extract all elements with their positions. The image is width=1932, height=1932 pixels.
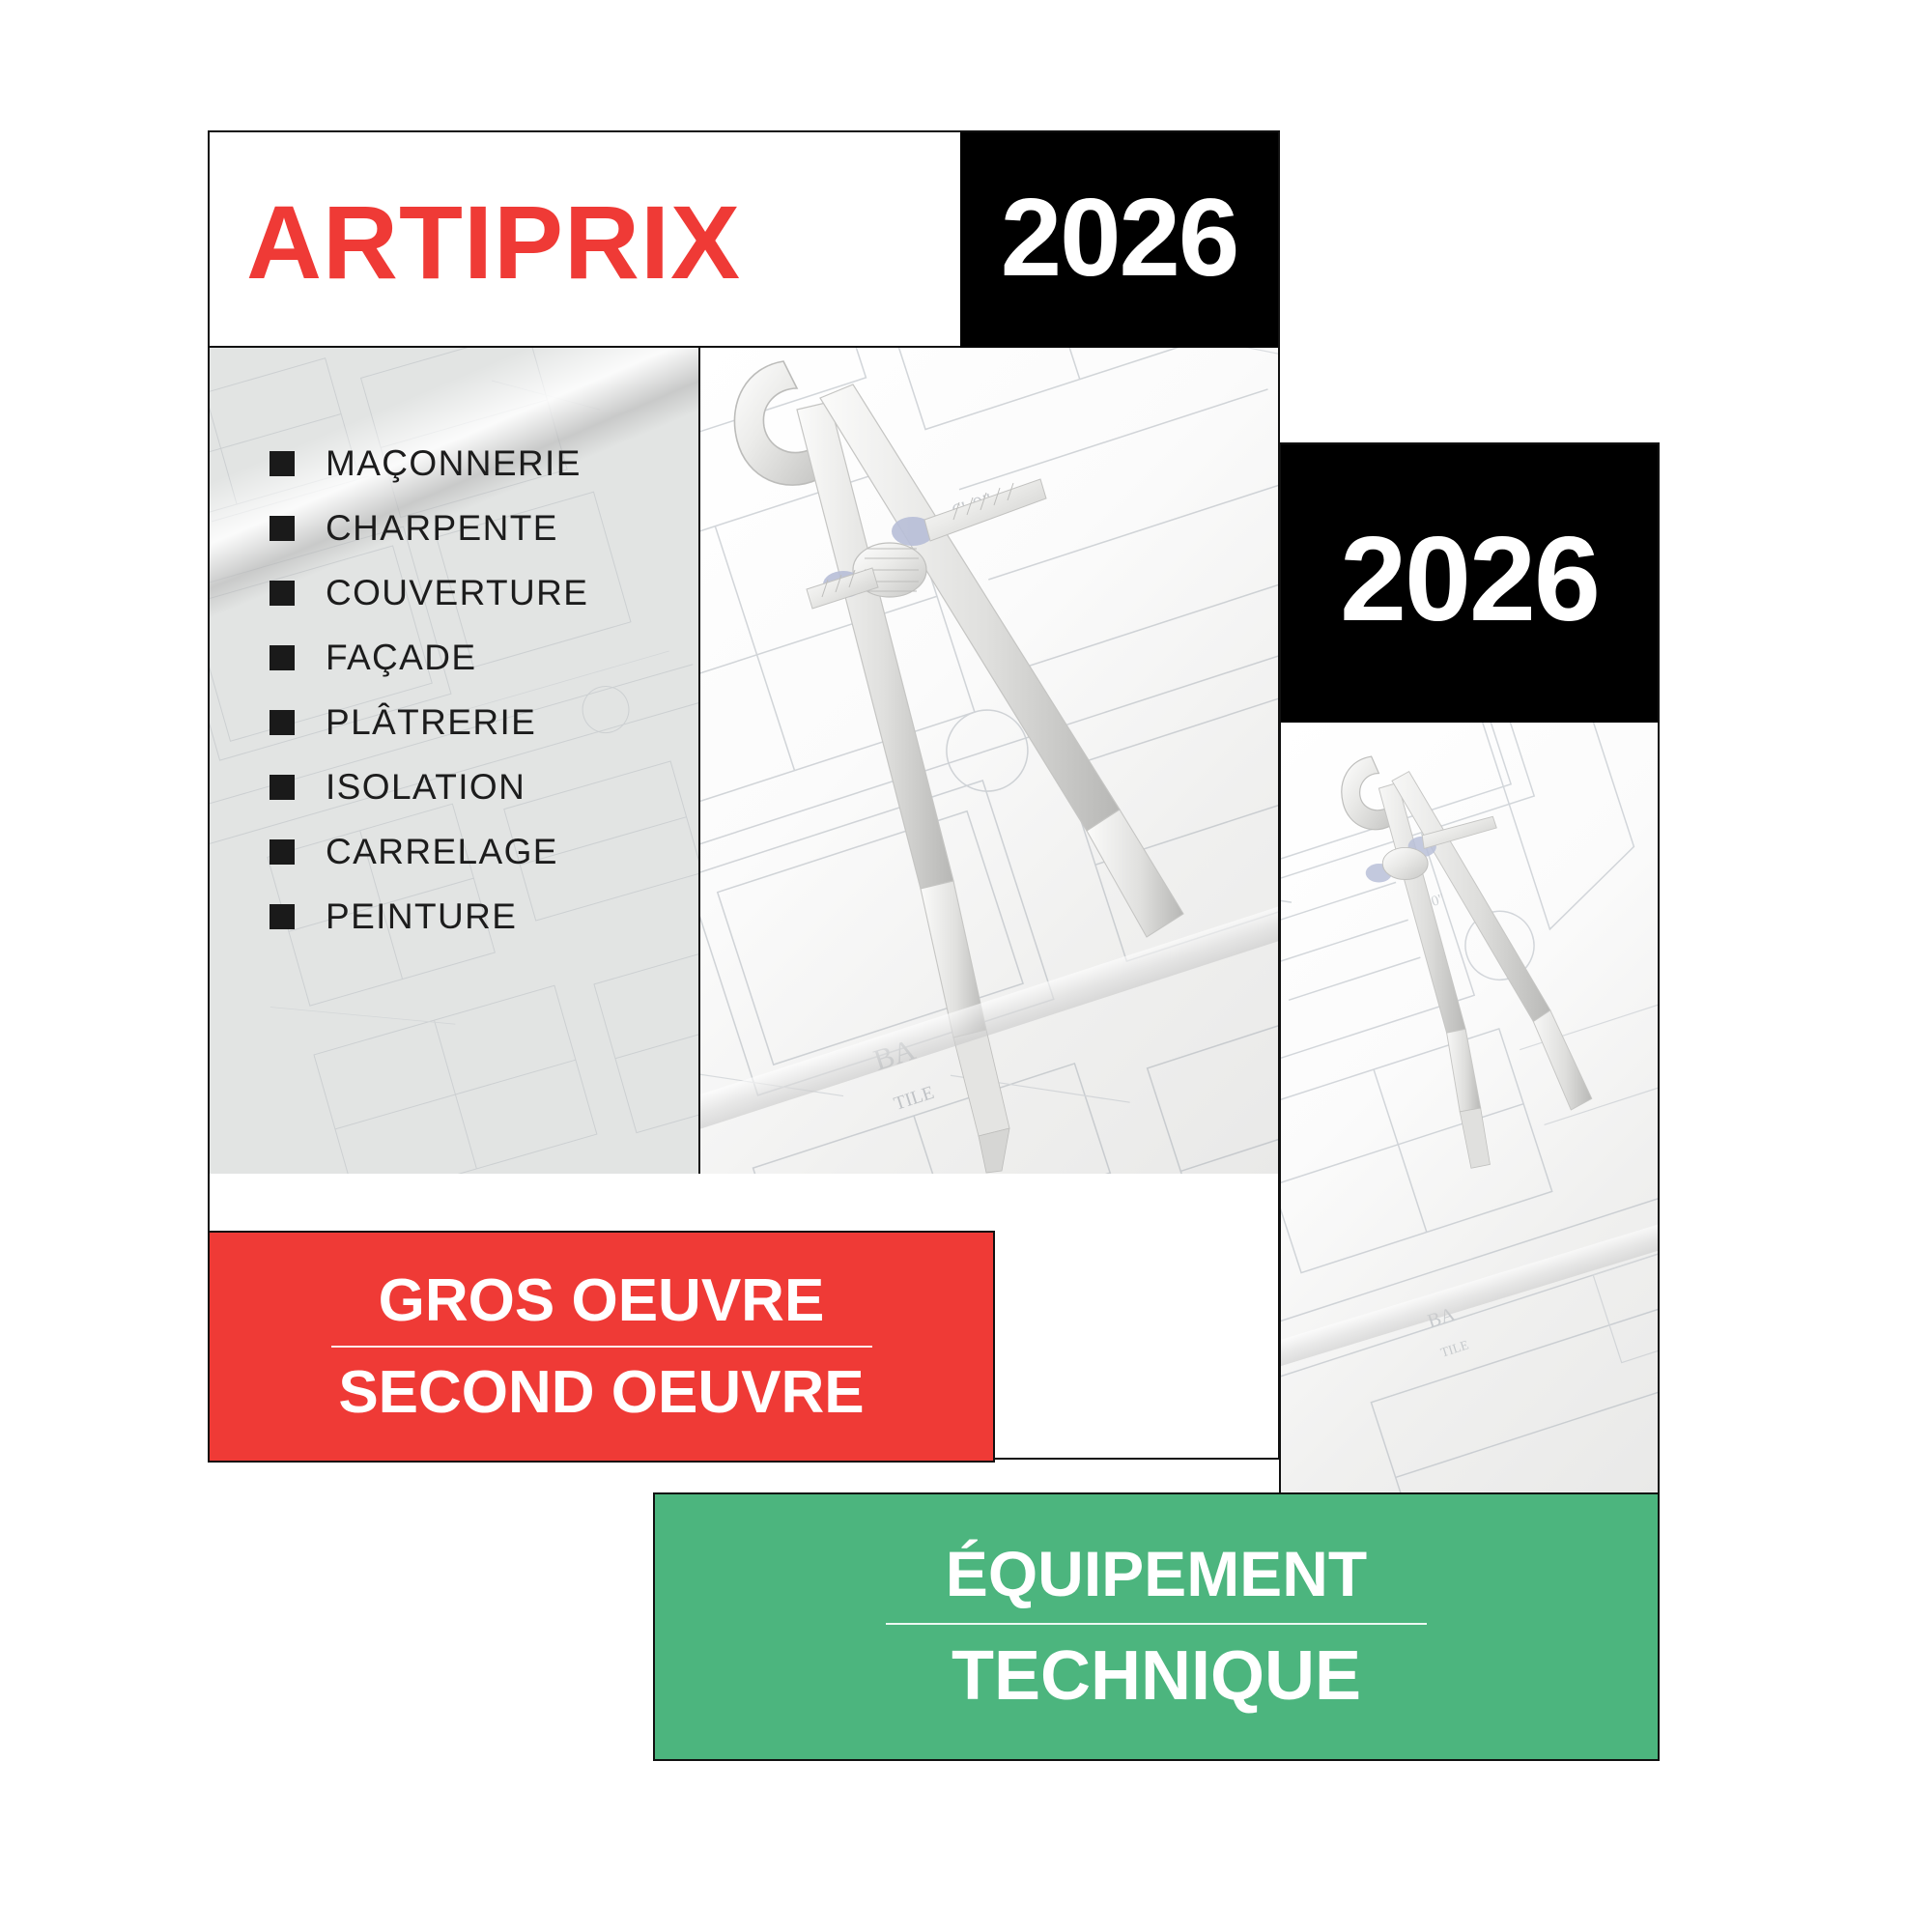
back-cover-photo: BA TILE 6'-0" (1281, 723, 1658, 1493)
svg-text:TILE: TILE (1438, 1338, 1470, 1360)
trade-label: MAÇONNERIE (326, 443, 582, 484)
trade-label: FAÇADE (326, 638, 476, 678)
list-item: PEINTURE (270, 884, 685, 949)
blueprint-linework: BA TILE 6'-0" (1281, 723, 1658, 1493)
square-bullet-icon (270, 839, 295, 865)
square-bullet-icon (270, 775, 295, 800)
front-cover-photo: W.C. BA TILE 6'-0" 8' (700, 348, 1278, 1174)
banner-green-line-top: ÉQUIPEMENT (946, 1541, 1367, 1607)
trade-label: ISOLATION (326, 767, 526, 808)
list-item: PLÂTRERIE (270, 690, 685, 754)
trade-label: CHARPENTE (326, 508, 558, 549)
square-bullet-icon (270, 904, 295, 929)
front-cover-body: MAÇONNERIE CHARPENTE COUVERTURE FAÇADE (210, 348, 1278, 1174)
trade-label: CARRELAGE (326, 832, 558, 872)
square-bullet-icon (270, 516, 295, 541)
front-cover-year-text: 2026 (1001, 184, 1238, 294)
product-cover-composition: BA TILE 6'-0" (0, 0, 1932, 1932)
list-item: CHARPENTE (270, 496, 685, 560)
list-item: MAÇONNERIE (270, 431, 685, 496)
trade-label: COUVERTURE (326, 573, 588, 613)
trade-label: PLÂTRERIE (326, 702, 536, 743)
list-item: ISOLATION (270, 754, 685, 819)
svg-text:6'-0": 6'-0" (1415, 892, 1446, 915)
back-cover-year-text: 2026 (1340, 520, 1599, 639)
square-bullet-icon (270, 645, 295, 670)
blueprint-linework: W.C. BA TILE 6'-0" 8' (700, 348, 1278, 1174)
list-item: CARRELAGE (270, 819, 685, 884)
list-item: FAÇADE (270, 625, 685, 690)
svg-text:6'-0": 6'-0" (950, 488, 997, 524)
list-item: COUVERTURE (270, 560, 685, 625)
back-cover-year-badge: 2026 (1281, 444, 1658, 723)
back-cover-equipement-technique: BA TILE 6'-0" (1279, 442, 1660, 1495)
trade-label: PEINTURE (326, 896, 517, 937)
trades-panel: MAÇONNERIE CHARPENTE COUVERTURE FAÇADE (210, 348, 700, 1174)
trades-list: MAÇONNERIE CHARPENTE COUVERTURE FAÇADE (270, 431, 685, 949)
banner-red-line-bottom: SECOND OEUVRE (338, 1361, 864, 1424)
banner-equipement-technique: ÉQUIPEMENT TECHNIQUE (653, 1492, 1660, 1761)
front-cover-header: ARTIPRIX 2026 (210, 132, 1278, 348)
square-bullet-icon (270, 451, 295, 476)
square-bullet-icon (270, 581, 295, 606)
banner-green-line-bottom: TECHNIQUE (952, 1640, 1361, 1714)
front-cover-year-badge: 2026 (960, 132, 1278, 348)
banner-green-divider (886, 1623, 1427, 1625)
brand-logo-artiprix: ARTIPRIX (246, 190, 741, 295)
square-bullet-icon (270, 710, 295, 735)
banner-gros-oeuvre: GROS OEUVRE SECOND OEUVRE (208, 1231, 995, 1463)
banner-red-divider (331, 1346, 872, 1348)
banner-red-line-top: GROS OEUVRE (379, 1269, 825, 1332)
